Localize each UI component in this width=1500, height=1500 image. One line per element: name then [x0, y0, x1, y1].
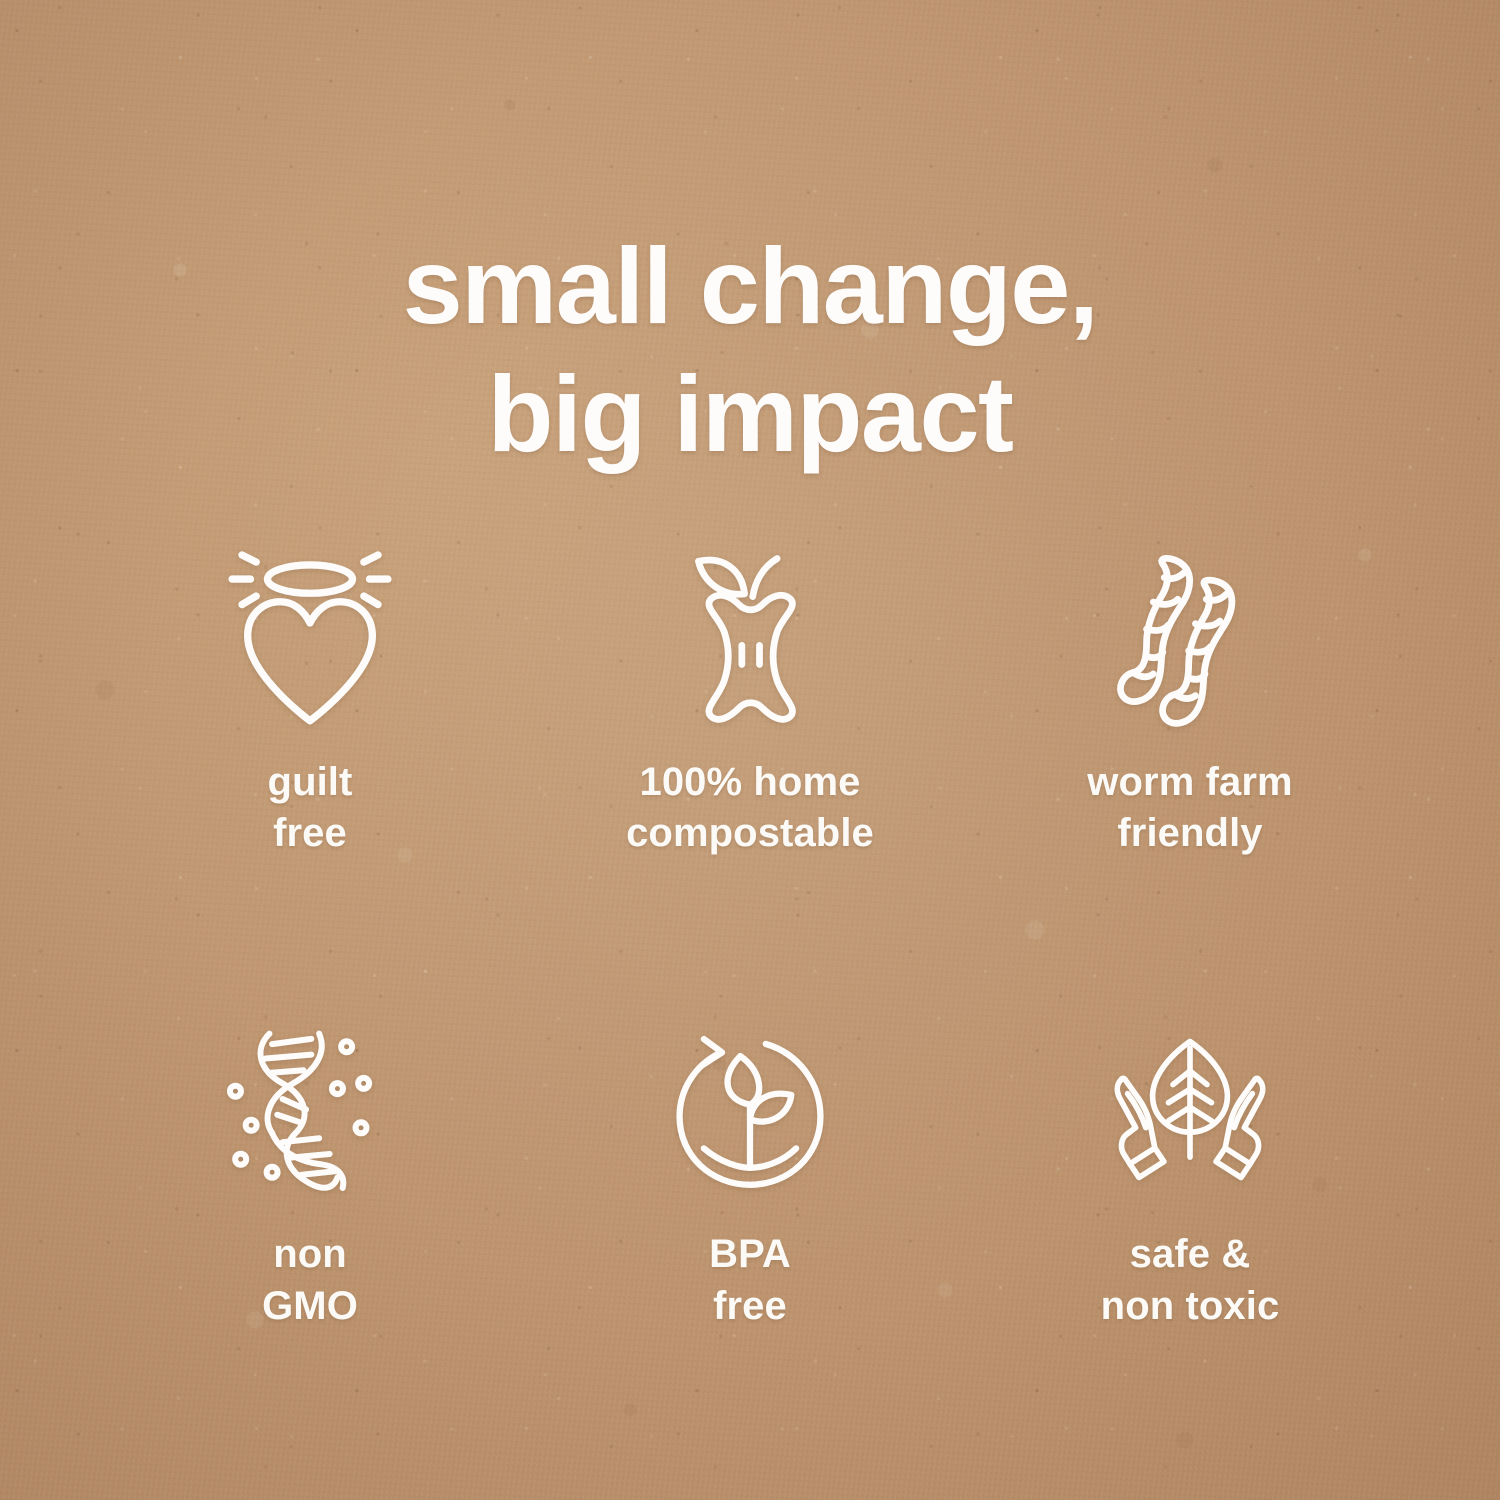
page-content: small change, big impact: [0, 0, 1500, 1500]
apple-core-icon: [665, 545, 835, 735]
feature-label: BPA free: [709, 1229, 791, 1331]
heart-with-halo-icon: [225, 545, 395, 735]
dna-helix-icon: [225, 1012, 395, 1207]
feature-item-worm-farm-friendly: worm farm friendly: [970, 545, 1410, 864]
feature-label: safe & non toxic: [1101, 1229, 1280, 1331]
feature-label: guilt free: [268, 757, 353, 859]
feature-grid: guilt free 100% home compostable: [90, 545, 1410, 1332]
feature-label: 100% home compostable: [626, 757, 874, 859]
feature-label: worm farm friendly: [1087, 757, 1292, 859]
worms-icon: [1105, 545, 1275, 735]
feature-item-non-gmo: non GMO: [90, 1012, 530, 1331]
feature-item-safe-non-toxic: safe & non toxic: [970, 1012, 1410, 1331]
feature-item-home-compostable: 100% home compostable: [530, 545, 970, 864]
feature-label: non GMO: [262, 1229, 358, 1331]
page-title: small change, big impact: [0, 222, 1500, 477]
feature-item-guilt-free: guilt free: [90, 545, 530, 864]
hands-holding-leaf-icon: [1105, 1012, 1275, 1207]
feature-item-bpa-free: BPA free: [530, 1012, 970, 1331]
recycle-sprout-icon: [665, 1012, 835, 1207]
